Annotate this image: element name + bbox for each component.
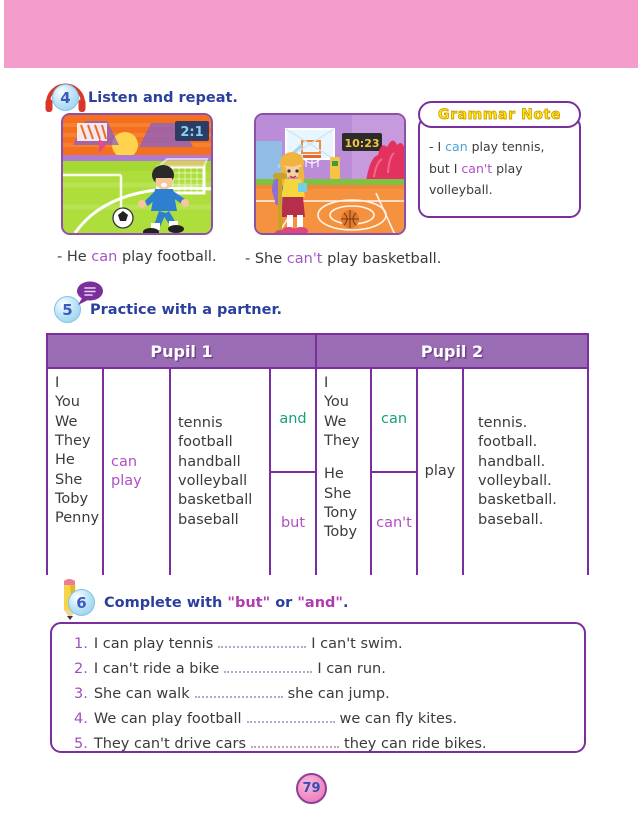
table-header-pupil-1: Pupil 1 bbox=[48, 335, 317, 367]
question-number: 1. bbox=[74, 634, 88, 655]
grammar-note-title-box: Grammar Note bbox=[418, 101, 581, 128]
pupil2-subjects-cell: I You We They He She Tony Toby bbox=[317, 369, 372, 575]
question-text-before: She can walk bbox=[94, 684, 190, 705]
question-number: 2. bbox=[74, 659, 88, 680]
subject-item: They bbox=[324, 432, 363, 451]
svg-text:2:1: 2:1 bbox=[180, 125, 203, 140]
sport-item: basketball bbox=[178, 491, 252, 510]
question-text-before: We can play football bbox=[94, 709, 242, 730]
question-row[interactable]: 2. I can't ride a bike I can run. bbox=[52, 657, 584, 682]
conjunction-and: and bbox=[271, 369, 315, 473]
gn-can: can bbox=[445, 139, 467, 154]
sport-item: basketball. bbox=[478, 491, 557, 510]
question-text-after: they can ride bikes. bbox=[344, 734, 487, 755]
question-row[interactable]: 5. They can't drive cars they can ride b… bbox=[52, 732, 584, 757]
basketball-scene-image: 10:23 bbox=[254, 113, 406, 235]
table-header-pupil-2: Pupil 2 bbox=[317, 335, 587, 367]
workbook-page: 4 Listen and repeat. 2:1 bbox=[0, 0, 638, 822]
pupil2-modal-cell: can can't bbox=[372, 369, 418, 575]
gn-line1-post: play tennis, bbox=[468, 139, 545, 154]
gn-line3: volleyball. bbox=[429, 179, 569, 201]
exercise-6-answer-box: 1. I can play tennis I can't swim. 2. I … bbox=[50, 622, 586, 753]
subject-item: She bbox=[55, 471, 95, 490]
subject-item: Tony bbox=[324, 504, 363, 523]
subject-item: She bbox=[324, 485, 363, 504]
exercise-4-title: Listen and repeat. bbox=[88, 90, 238, 106]
sport-item: tennis. bbox=[478, 414, 557, 433]
answer-blank[interactable] bbox=[224, 661, 312, 673]
pupil1-subjects-cell: I You We They He She Toby Penny bbox=[48, 369, 104, 575]
svg-text:10:23: 10:23 bbox=[344, 137, 379, 150]
subject-item: You bbox=[55, 393, 95, 412]
sport-item: football bbox=[178, 433, 252, 452]
modal-can: can bbox=[372, 369, 416, 473]
ex6-title-pre: Complete with bbox=[104, 595, 227, 611]
question-text-before: I can't ride a bike bbox=[94, 659, 219, 680]
subject-group-gap bbox=[324, 451, 363, 465]
exercise-5-title: Practice with a partner. bbox=[90, 302, 282, 318]
exercise-6-number: 6 bbox=[68, 589, 95, 616]
answer-blank[interactable] bbox=[195, 686, 283, 698]
grammar-note-body: - I can play tennis, but I can't play vo… bbox=[418, 116, 581, 218]
sport-item: handball. bbox=[478, 453, 557, 472]
ex6-title-mid: or bbox=[270, 595, 297, 611]
caption-football: - He can play football. bbox=[57, 249, 217, 265]
pupil2-sports-cell: tennis. football. handball. volleyball. … bbox=[464, 369, 587, 575]
question-row[interactable]: 1. I can play tennis I can't swim. bbox=[52, 632, 584, 657]
answer-blank[interactable] bbox=[251, 736, 339, 748]
subject-item: They bbox=[55, 432, 95, 451]
exercise-6-heading: 6 Complete with "but" or "and". bbox=[68, 589, 348, 616]
subject-item: Toby bbox=[324, 523, 363, 542]
subject-item: You bbox=[324, 393, 363, 412]
exercise-4-heading: 4 Listen and repeat. bbox=[52, 84, 238, 111]
question-number: 4. bbox=[74, 709, 88, 730]
sport-item: volleyball. bbox=[478, 472, 557, 491]
sport-item: football. bbox=[478, 433, 557, 452]
answer-blank[interactable] bbox=[247, 711, 335, 723]
question-text-after: we can fly kites. bbox=[340, 709, 458, 730]
gn-cant: can't bbox=[461, 161, 492, 176]
ex6-title-but: "but" bbox=[227, 595, 270, 611]
gn-line1-pre: - I bbox=[429, 139, 445, 154]
pupil1-verb-cell: can play bbox=[104, 369, 171, 575]
gn-line2-pre: but I bbox=[429, 161, 461, 176]
subject-item: I bbox=[324, 374, 363, 393]
pupil1-conjunction-cell: and but bbox=[271, 369, 317, 575]
exercise-6-title: Complete with "but" or "and". bbox=[104, 595, 348, 611]
caption-basketball: - She can't play basketball. bbox=[245, 251, 441, 267]
sport-item: handball bbox=[178, 453, 252, 472]
exercise-5-heading: 5 Practice with a partner. bbox=[54, 296, 282, 323]
conjunction-but: but bbox=[271, 473, 315, 575]
caption-2-suffix: play basketball. bbox=[323, 251, 442, 267]
table-body-row: I You We They He She Toby Penny can play… bbox=[48, 367, 587, 575]
caption-2-prefix: - She bbox=[245, 251, 287, 267]
question-text-after: she can jump. bbox=[288, 684, 390, 705]
banner-left-edge bbox=[0, 0, 4, 68]
caption-1-modal: can bbox=[91, 249, 117, 265]
gn-line2-post: play bbox=[492, 161, 522, 176]
sport-item: baseball bbox=[178, 511, 252, 530]
speech-bubble-icon bbox=[74, 281, 104, 306]
question-text-after: I can't swim. bbox=[311, 634, 402, 655]
question-text-after: I can run. bbox=[317, 659, 386, 680]
subject-item: He bbox=[55, 451, 95, 470]
grammar-note-title: Grammar Note bbox=[438, 107, 561, 123]
ex6-title-and: "and" bbox=[297, 595, 343, 611]
football-scene-image: 2:1 bbox=[61, 113, 213, 235]
practice-table: Pupil 1 Pupil 2 I You We They He She Tob… bbox=[46, 333, 589, 575]
subject-item: Toby bbox=[55, 490, 95, 509]
table-header-row: Pupil 1 Pupil 2 bbox=[48, 335, 587, 367]
question-number: 5. bbox=[74, 734, 88, 755]
sport-item: volleyball bbox=[178, 472, 252, 491]
subject-item: He bbox=[324, 465, 363, 484]
ex6-title-end: . bbox=[343, 595, 349, 611]
subject-item: I bbox=[55, 374, 95, 393]
subject-item: Penny bbox=[55, 509, 95, 528]
subject-item: We bbox=[55, 413, 95, 432]
question-row[interactable]: 4. We can play football we can fly kites… bbox=[52, 707, 584, 732]
caption-1-prefix: - He bbox=[57, 249, 91, 265]
caption-2-modal: can't bbox=[287, 251, 323, 267]
page-number-badge: 79 bbox=[296, 773, 327, 804]
pupil1-sports-cell: tennis football handball volleyball bask… bbox=[171, 369, 271, 575]
question-text-before: They can't drive cars bbox=[94, 734, 246, 755]
question-text-before: I can play tennis bbox=[94, 634, 213, 655]
answer-blank[interactable] bbox=[218, 636, 306, 648]
question-row[interactable]: 3. She can walk she can jump. bbox=[52, 682, 584, 707]
question-number: 3. bbox=[74, 684, 88, 705]
top-decorative-banner bbox=[4, 0, 638, 68]
exercise-4-number: 4 bbox=[52, 84, 79, 111]
sport-item: tennis bbox=[178, 414, 252, 433]
subject-item: We bbox=[324, 413, 363, 432]
sport-item: baseball. bbox=[478, 511, 557, 530]
caption-1-suffix: play football. bbox=[117, 249, 216, 265]
modal-cant: can't bbox=[372, 473, 416, 575]
pupil2-verb-cell: play bbox=[418, 369, 464, 575]
